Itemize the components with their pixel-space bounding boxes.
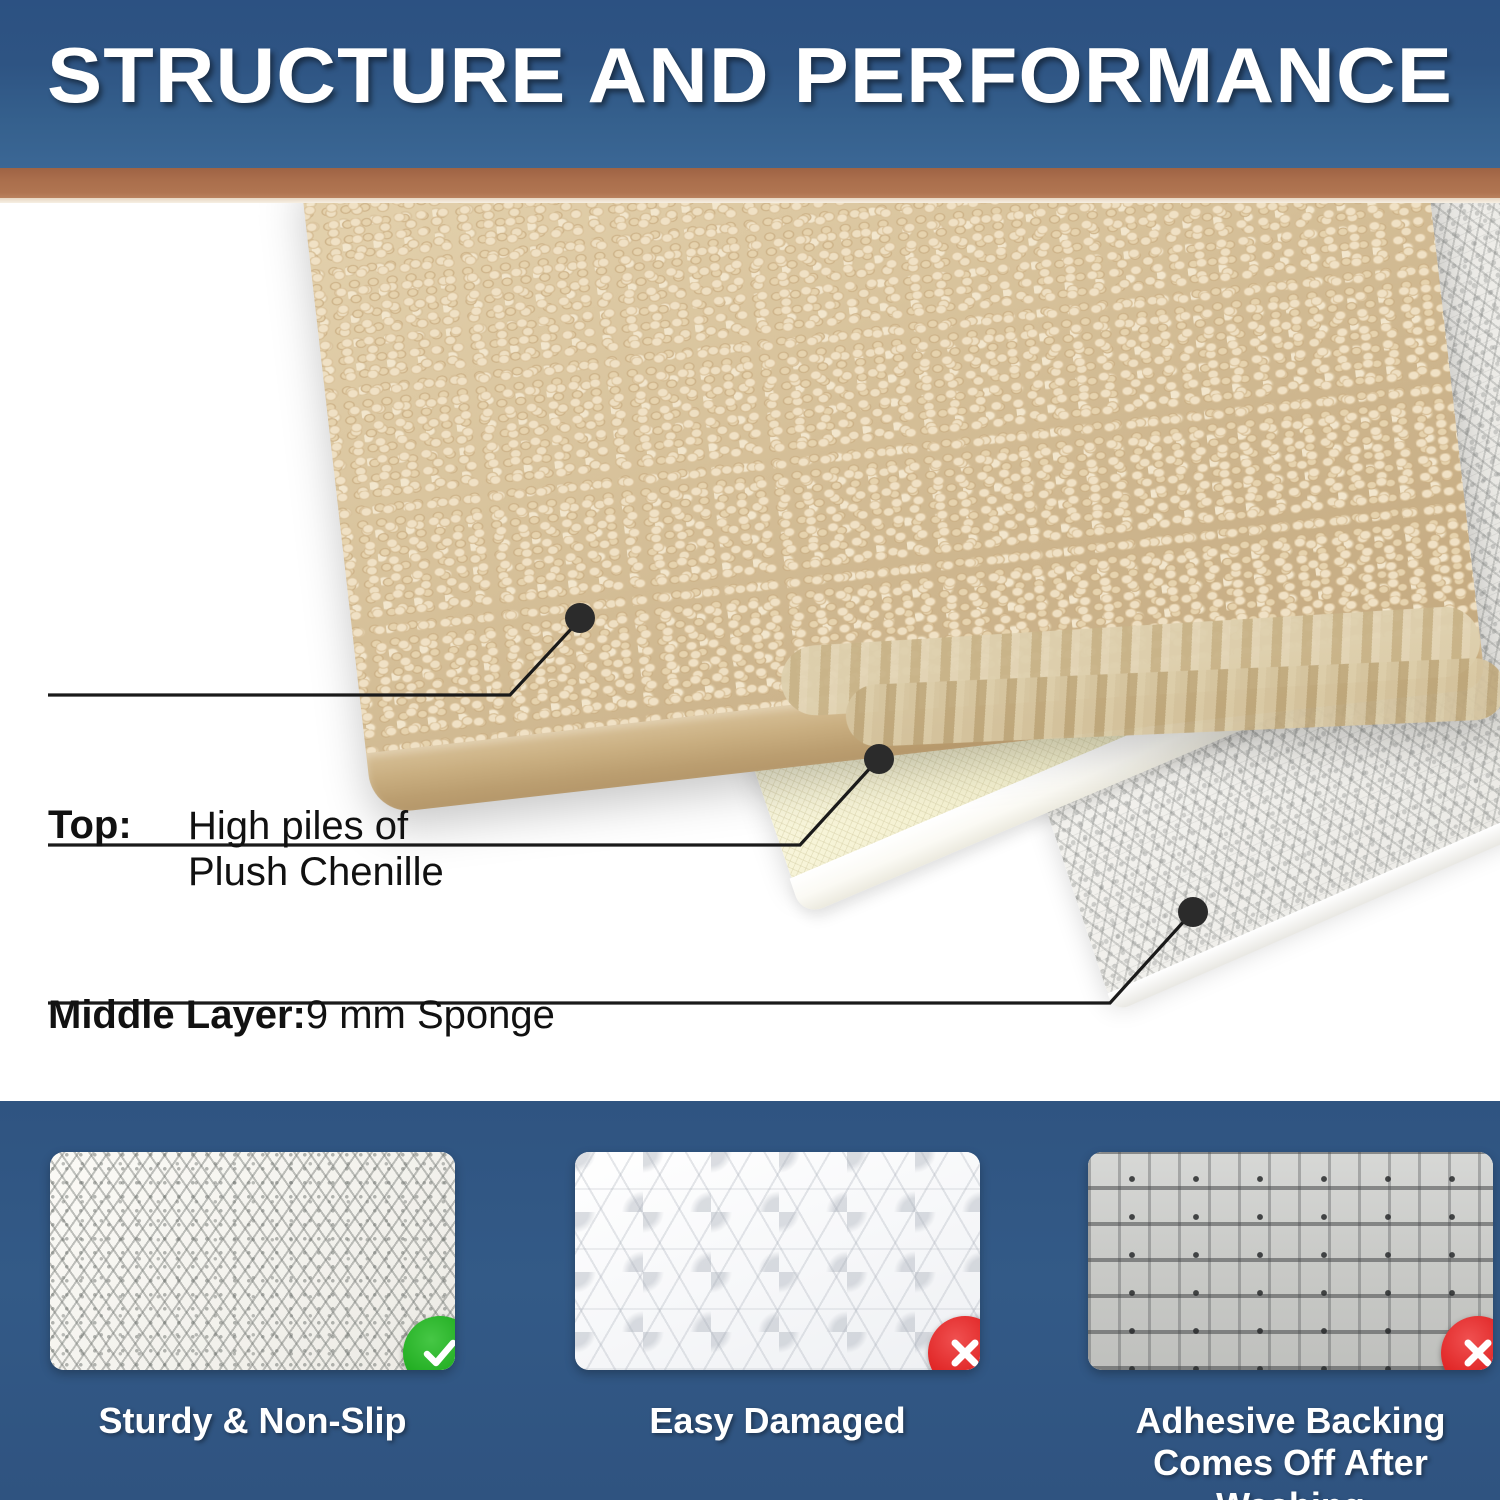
grey-grid-texture-image <box>1088 1152 1493 1370</box>
comparison-card-caption: Sturdy & Non-Slip <box>50 1400 455 1442</box>
callout-top-value: High piles of Plush Chenille <box>188 803 444 895</box>
header-accent-rule <box>0 168 1500 201</box>
comparison-card: Adhesive Backing Comes Off After Washing <box>1088 1152 1493 1500</box>
callout-top: Top: High piles of Plush Chenille <box>48 803 568 895</box>
callout-top-value-line1: High piles of <box>188 804 408 848</box>
callout-middle-label: Middle Layer: <box>48 993 306 1038</box>
comparison-card-list: Sturdy & Non-Slip Easy Damaged <box>0 1101 1500 1500</box>
comparison-card: Sturdy & Non-Slip <box>50 1152 455 1442</box>
callout-top-label: Top: <box>48 803 188 848</box>
comparison-thumbnail <box>1088 1152 1493 1370</box>
callout-middle-value: 9 mm Sponge <box>306 993 555 1038</box>
callout-top-value-line2: Plush Chenille <box>188 850 444 894</box>
product-photo-stage: Top: High piles of Plush Chenille Middle… <box>0 203 1500 1101</box>
comparison-thumbnail <box>50 1152 455 1370</box>
pvc-mesh-texture-image <box>50 1152 455 1370</box>
page-title: STRUCTURE AND PERFORMANCE <box>0 30 1500 121</box>
comparison-card-caption: Adhesive Backing Comes Off After Washing <box>1088 1400 1493 1500</box>
comparison-band: Sturdy & Non-Slip Easy Damaged <box>0 1101 1500 1500</box>
comparison-thumbnail <box>575 1152 980 1370</box>
callout-middle: Middle Layer: 9 mm Sponge <box>48 993 555 1038</box>
header-banner: STRUCTURE AND PERFORMANCE <box>0 0 1500 168</box>
embossed-diamond-texture-image <box>575 1152 980 1370</box>
product-infographic: STRUCTURE AND PERFORMANCE <box>0 0 1500 1500</box>
comparison-card-caption: Easy Damaged <box>575 1400 980 1442</box>
chenille-top-layer-photo <box>300 203 1485 809</box>
comparison-card: Easy Damaged <box>575 1152 980 1442</box>
